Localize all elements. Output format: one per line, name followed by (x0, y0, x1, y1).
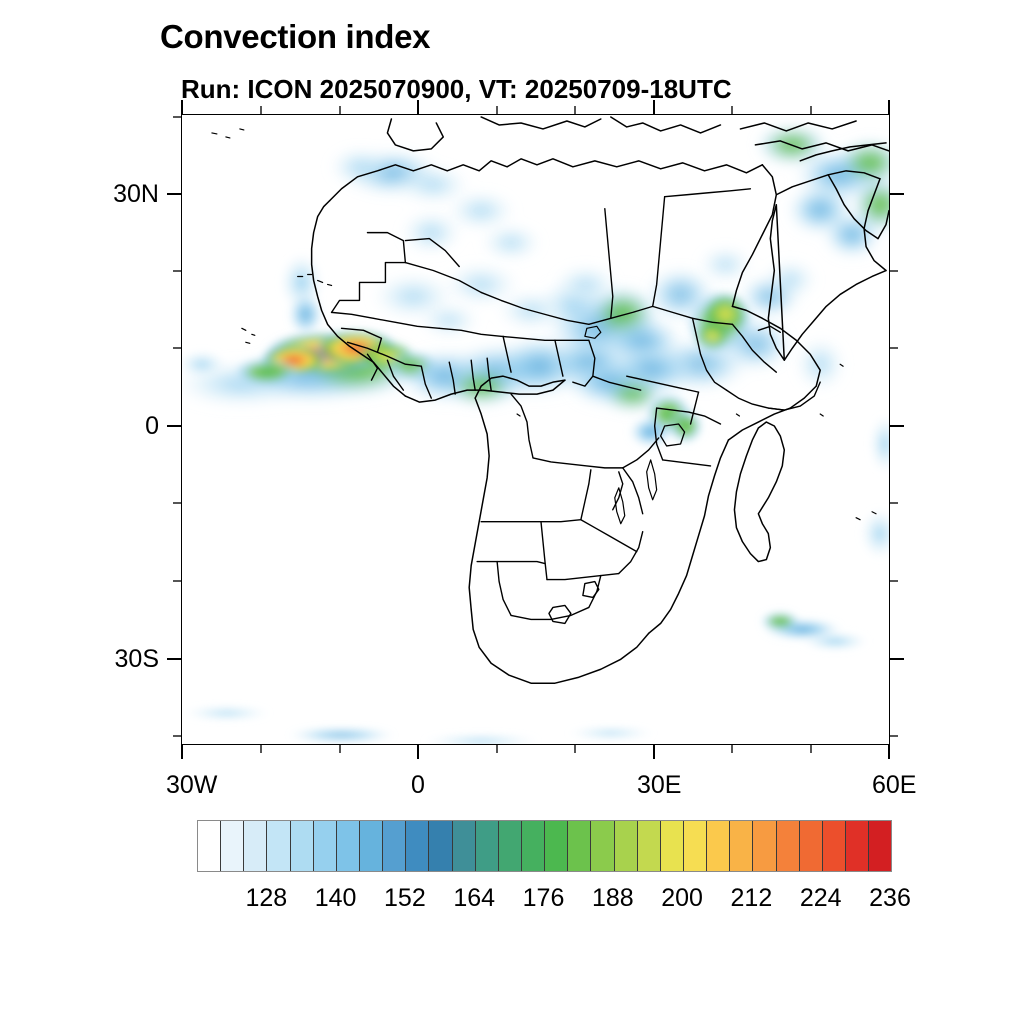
colorbar-tick-label: 212 (731, 884, 773, 913)
colorbar-cell (221, 821, 244, 871)
xtick-minor (574, 745, 576, 753)
xtick-top-major (181, 100, 183, 114)
colorbar-cell (730, 821, 753, 871)
colorbar-tick-label: 152 (384, 884, 426, 913)
colorbar-cell (244, 821, 267, 871)
ytick-minor (173, 116, 181, 118)
colorbar-cell (823, 821, 846, 871)
xtick-top-minor (339, 106, 341, 114)
colorbar-cell (568, 821, 591, 871)
xtick-label-30e: 30E (637, 771, 681, 800)
xtick-major-0 (417, 745, 419, 759)
ytick-minor (173, 270, 181, 272)
colorbar-cell (406, 821, 429, 871)
colorbar-cell (753, 821, 776, 871)
colorbar-cell (545, 821, 568, 871)
ytick-label-30s: 30S (101, 645, 159, 674)
colorbar-cell (453, 821, 476, 871)
xtick-top-minor (810, 106, 812, 114)
xtick-major-60e (888, 745, 890, 759)
colorbar-tick-label: 236 (869, 884, 911, 913)
colorbar-cell (800, 821, 823, 871)
colorbar-cell (267, 821, 290, 871)
colorbar-cell (591, 821, 614, 871)
xtick-top-major (653, 100, 655, 114)
ytick-major-right (890, 658, 904, 660)
colorbar-tick-label: 140 (315, 884, 357, 913)
colorbar-cell (707, 821, 730, 871)
xtick-top-minor (496, 106, 498, 114)
colorbar-tick-label: 176 (523, 884, 565, 913)
xtick-minor (810, 745, 812, 753)
xtick-top-minor (574, 106, 576, 114)
ytick-major-right (890, 193, 904, 195)
colorbar-cell (846, 821, 869, 871)
ytick-minor (173, 502, 181, 504)
ytick-major-30s (167, 658, 181, 660)
colorbar-cell (638, 821, 661, 871)
xtick-top-major (417, 100, 419, 114)
page-title: Convection index (160, 18, 430, 56)
colorbar-tick-label: 128 (245, 884, 287, 913)
colorbar-cell (337, 821, 360, 871)
ytick-minor (173, 580, 181, 582)
colorbar-cell (383, 821, 406, 871)
colorbar-tick-label: 200 (661, 884, 703, 913)
colorbar-cell (522, 821, 545, 871)
xtick-label-60e: 60E (872, 771, 916, 800)
ytick-minor (173, 735, 181, 737)
ytick-major-30n (167, 193, 181, 195)
colorbar[interactable] (197, 820, 892, 872)
xtick-top-major (888, 100, 890, 114)
xtick-minor (260, 745, 262, 753)
ytick-minor-right (890, 735, 898, 737)
xtick-top-minor (731, 106, 733, 114)
colorbar-tick-label: 188 (592, 884, 634, 913)
xtick-label-30w: 30W (166, 771, 217, 800)
colorbar-cell (314, 821, 337, 871)
map-plot-area (181, 114, 890, 745)
colorbar-cell (869, 821, 891, 871)
colorbar-cell (684, 821, 707, 871)
colorbar-cell (360, 821, 383, 871)
ytick-minor-right (890, 502, 898, 504)
xtick-major-30e (653, 745, 655, 759)
ytick-label-30n: 30N (101, 180, 159, 209)
run-valid-time-subtitle: Run: ICON 2025070900, VT: 20250709-18UTC (181, 74, 732, 105)
ytick-major-right (890, 425, 904, 427)
xtick-minor (496, 745, 498, 753)
figure-canvas: Convection index Run: ICON 2025070900, V… (0, 0, 1024, 1024)
colorbar-cell (499, 821, 522, 871)
ytick-minor-right (890, 270, 898, 272)
colorbar-tick-label: 224 (800, 884, 842, 913)
xtick-top-minor (260, 106, 262, 114)
colorbar-cell (291, 821, 314, 871)
colorbar-tick-label: 164 (453, 884, 495, 913)
map-graphic (182, 115, 889, 744)
colorbar-cell (615, 821, 638, 871)
ytick-major-0 (167, 425, 181, 427)
ytick-minor-right (890, 580, 898, 582)
ytick-label-0: 0 (101, 412, 159, 441)
colorbar-cell (476, 821, 499, 871)
xtick-minor (731, 745, 733, 753)
xtick-major-30w (181, 745, 183, 759)
colorbar-cell (429, 821, 452, 871)
colorbar-cell (661, 821, 684, 871)
ytick-minor-right (890, 347, 898, 349)
colorbar-cell (777, 821, 800, 871)
ytick-minor (173, 347, 181, 349)
colorbar-cell (198, 821, 221, 871)
xtick-minor (339, 745, 341, 753)
xtick-label-0: 0 (411, 771, 425, 800)
